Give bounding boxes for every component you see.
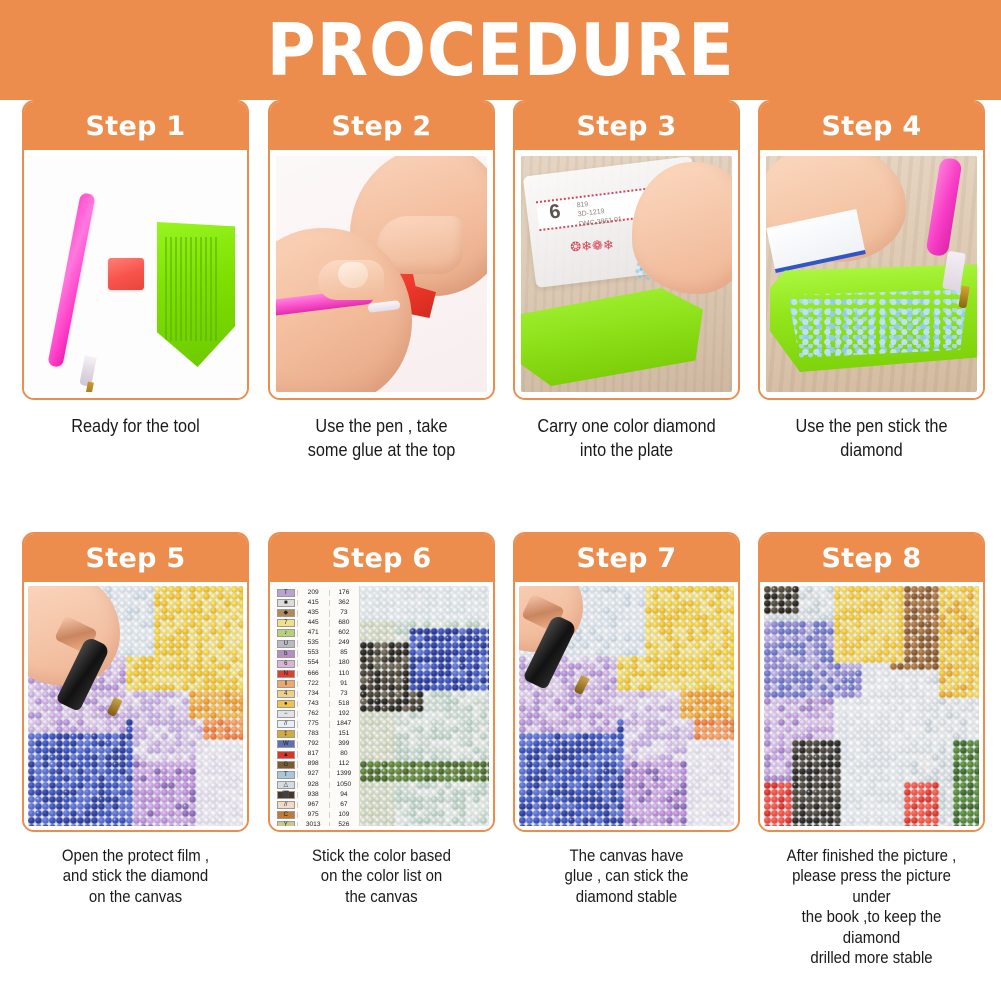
color-list-row: ⬛93894 bbox=[275, 790, 358, 800]
color-list-row: ◆43573 bbox=[275, 608, 358, 618]
step-5-caption: Open the protect film , and stick the di… bbox=[36, 846, 236, 907]
color-list-row: ●743518 bbox=[275, 699, 358, 709]
color-count: 91 bbox=[329, 681, 358, 688]
step-3-card: Step 3 6 8193D-1219DMC 3861 01 ❂❄❁❄ bbox=[513, 100, 740, 400]
color-list-row: Y3013526 bbox=[275, 820, 358, 826]
pen-tray-photo bbox=[766, 156, 977, 392]
step-8-image bbox=[760, 582, 983, 830]
step-5-image bbox=[24, 582, 247, 830]
step-card-6: Step 6 T209176■415362◆435737445680♪47160… bbox=[268, 532, 495, 907]
step-5-header: Step 5 bbox=[24, 534, 247, 582]
color-list-row: //96767 bbox=[275, 800, 358, 810]
step-card-4: Step 4 bbox=[758, 100, 985, 461]
color-count: 526 bbox=[329, 822, 358, 826]
color-symbol-swatch: Y bbox=[277, 821, 295, 826]
color-count: 399 bbox=[329, 741, 358, 748]
color-count: 1847 bbox=[329, 721, 358, 728]
step-card-7: Step 7 The canvas have glue , can stick … bbox=[513, 532, 740, 907]
color-code: 938 bbox=[297, 792, 329, 799]
color-symbol-swatch: T bbox=[277, 589, 295, 597]
color-symbol-swatch: G bbox=[277, 761, 295, 769]
color-symbol-swatch: W bbox=[277, 740, 295, 748]
step-6-card: Step 6 T209176■415362◆435737445680♪47160… bbox=[268, 532, 495, 832]
color-code: 209 bbox=[297, 590, 329, 597]
color-code: 722 bbox=[297, 681, 329, 688]
step-1-image bbox=[24, 150, 247, 398]
color-code: 535 bbox=[297, 640, 329, 647]
color-count: 67 bbox=[329, 802, 358, 809]
step-1-card: Step 1 bbox=[22, 100, 249, 400]
color-code: 775 bbox=[297, 721, 329, 728]
color-count: 112 bbox=[329, 761, 358, 768]
step-card-2: Step 2 bbox=[268, 100, 495, 461]
step-2-caption: Use the pen , take some glue at the top bbox=[282, 414, 482, 461]
color-symbol-swatch: ■ bbox=[277, 599, 295, 607]
color-count: 110 bbox=[329, 671, 358, 678]
step-4-caption: Use the pen stick the diamond bbox=[772, 414, 972, 461]
color-code: 445 bbox=[297, 620, 329, 627]
color-code: 471 bbox=[297, 630, 329, 637]
color-code: 928 bbox=[297, 782, 329, 789]
page-banner: PROCEDURE bbox=[0, 0, 1001, 100]
color-count: 80 bbox=[329, 751, 358, 758]
color-code: 415 bbox=[297, 600, 329, 607]
hands-glue-photo bbox=[276, 156, 487, 392]
color-code: 783 bbox=[297, 731, 329, 738]
color-list-row: △9281050 bbox=[275, 780, 358, 790]
blue-diamonds bbox=[780, 288, 976, 358]
canvas-mosaic-photo bbox=[28, 586, 243, 826]
color-symbol-swatch: U bbox=[277, 640, 295, 648]
glue-square-icon bbox=[108, 258, 144, 290]
step-4-card: Step 4 bbox=[758, 100, 985, 400]
color-count: 1050 bbox=[329, 782, 358, 789]
procedure-infographic: PROCEDURE Step 1 bbox=[0, 0, 1001, 1001]
step-7-card: Step 7 bbox=[513, 532, 740, 832]
color-count: 85 bbox=[329, 650, 358, 657]
color-list-photo: T209176■415362◆435737445680♪471602U53524… bbox=[274, 586, 489, 826]
color-list-row: C975109 bbox=[275, 810, 358, 820]
color-code: 666 bbox=[297, 671, 329, 678]
color-symbol-swatch: 4 bbox=[277, 690, 295, 698]
finished-painting-photo bbox=[764, 586, 979, 826]
color-code: 762 bbox=[297, 711, 329, 718]
color-code: 967 bbox=[297, 802, 329, 809]
page-title: PROCEDURE bbox=[266, 14, 734, 86]
color-count: 1399 bbox=[329, 771, 358, 778]
color-code: 898 bbox=[297, 761, 329, 768]
color-list-row: ▲81780 bbox=[275, 750, 358, 760]
step-3-header: Step 3 bbox=[515, 102, 738, 150]
color-count: 602 bbox=[329, 630, 358, 637]
color-list-row: //7751847 bbox=[275, 719, 358, 729]
color-symbol-swatch: ‖ bbox=[277, 680, 295, 688]
color-count: 518 bbox=[329, 701, 358, 708]
color-list-row: N666110 bbox=[275, 669, 358, 679]
color-code: 743 bbox=[297, 701, 329, 708]
color-count: 151 bbox=[329, 731, 358, 738]
color-count: 109 bbox=[329, 812, 358, 819]
color-symbol-swatch: ● bbox=[277, 700, 295, 708]
step-7-image bbox=[515, 582, 738, 830]
color-symbol-swatch: ◆ bbox=[277, 609, 295, 617]
color-symbol-swatch: // bbox=[277, 801, 295, 809]
step-4-header: Step 4 bbox=[760, 102, 983, 150]
color-list-row: −762192 bbox=[275, 709, 358, 719]
color-list-row: ■415362 bbox=[275, 598, 358, 608]
bag-into-tray-photo: 6 8193D-1219DMC 3861 01 ❂❄❁❄ bbox=[521, 156, 732, 392]
step-1-caption: Ready for the tool bbox=[36, 414, 236, 438]
color-list-row: T9271399 bbox=[275, 770, 358, 780]
step-card-1: Step 1 Ready bbox=[22, 100, 249, 438]
color-count: 73 bbox=[329, 691, 358, 698]
color-code: 554 bbox=[297, 660, 329, 667]
color-symbol-swatch: // bbox=[277, 720, 295, 728]
step-card-8: Step 8 After finished the picture , plea… bbox=[758, 532, 985, 968]
color-list-table: T209176■415362◆435737445680♪471602U53524… bbox=[274, 586, 360, 826]
color-symbol-swatch: △ bbox=[277, 781, 295, 789]
step-4-image bbox=[760, 150, 983, 398]
color-symbol-swatch: ‡ bbox=[277, 730, 295, 738]
color-code: 3013 bbox=[297, 822, 329, 826]
step-7-header: Step 7 bbox=[515, 534, 738, 582]
steps-grid: Step 1 Ready bbox=[0, 100, 1001, 978]
step-1-header: Step 1 bbox=[24, 102, 247, 150]
steps-row-1: Step 1 Ready bbox=[0, 100, 1001, 532]
color-count: 94 bbox=[329, 792, 358, 799]
color-list-row: ♪471602 bbox=[275, 628, 358, 638]
step-6-caption: Stick the color based on the color list … bbox=[282, 846, 482, 907]
color-list-row: U535249 bbox=[275, 638, 358, 648]
color-symbol-swatch: − bbox=[277, 710, 295, 718]
color-symbol-swatch: C bbox=[277, 811, 295, 819]
color-symbol-swatch: b bbox=[277, 650, 295, 658]
color-count: 192 bbox=[329, 711, 358, 718]
tools-photo bbox=[30, 156, 241, 392]
color-list-row: b55385 bbox=[275, 649, 358, 659]
color-count: 180 bbox=[329, 660, 358, 667]
step-8-caption: After finished the picture , please pres… bbox=[772, 846, 972, 968]
color-count: 73 bbox=[329, 610, 358, 617]
step-2-header: Step 2 bbox=[270, 102, 493, 150]
color-symbol-swatch: N bbox=[277, 670, 295, 678]
color-code: 975 bbox=[297, 812, 329, 819]
color-symbol-swatch: 6 bbox=[277, 660, 295, 668]
step-2-image bbox=[270, 150, 493, 398]
color-code: 817 bbox=[297, 751, 329, 758]
step-2-card: Step 2 bbox=[268, 100, 495, 400]
step-7-caption: The canvas have glue , can stick the dia… bbox=[527, 846, 727, 907]
steps-row-2: Step 5 Open the protect film , and stick… bbox=[0, 532, 1001, 978]
color-symbol-swatch: ▲ bbox=[277, 751, 295, 759]
step-6-header: Step 6 bbox=[270, 534, 493, 582]
step-card-5: Step 5 Open the protect film , and stick… bbox=[22, 532, 249, 907]
color-symbol-swatch: ♪ bbox=[277, 629, 295, 637]
step-card-3: Step 3 6 8193D-1219DMC 3861 01 ❂❄❁❄ bbox=[513, 100, 740, 461]
step-3-image: 6 8193D-1219DMC 3861 01 ❂❄❁❄ bbox=[515, 150, 738, 398]
color-count: 680 bbox=[329, 620, 358, 627]
color-count: 362 bbox=[329, 600, 358, 607]
step-6-image: T209176■415362◆435737445680♪471602U53524… bbox=[270, 582, 493, 830]
step-3-caption: Carry one color diamond into the plate bbox=[527, 414, 727, 461]
color-code: 792 bbox=[297, 741, 329, 748]
color-code: 553 bbox=[297, 650, 329, 657]
color-list-row: 7445680 bbox=[275, 618, 358, 628]
color-list-row: W792399 bbox=[275, 739, 358, 749]
color-list-row: G898112 bbox=[275, 760, 358, 770]
color-symbol-swatch: ⬛ bbox=[277, 791, 295, 799]
color-list-row: T209176 bbox=[275, 588, 358, 598]
color-code: 734 bbox=[297, 691, 329, 698]
color-code: 435 bbox=[297, 610, 329, 617]
color-list-row: 473473 bbox=[275, 689, 358, 699]
pen-on-canvas-photo bbox=[519, 586, 734, 826]
step-8-card: Step 8 bbox=[758, 532, 985, 832]
color-symbol-swatch: 7 bbox=[277, 619, 295, 627]
step-5-card: Step 5 bbox=[22, 532, 249, 832]
color-count: 176 bbox=[329, 590, 358, 597]
color-symbol-swatch: T bbox=[277, 771, 295, 779]
color-list-row: ‖72291 bbox=[275, 679, 358, 689]
color-list-row: 6554180 bbox=[275, 659, 358, 669]
step-8-header: Step 8 bbox=[760, 534, 983, 582]
color-code: 927 bbox=[297, 771, 329, 778]
color-list-row: ‡783151 bbox=[275, 729, 358, 739]
color-count: 249 bbox=[329, 640, 358, 647]
